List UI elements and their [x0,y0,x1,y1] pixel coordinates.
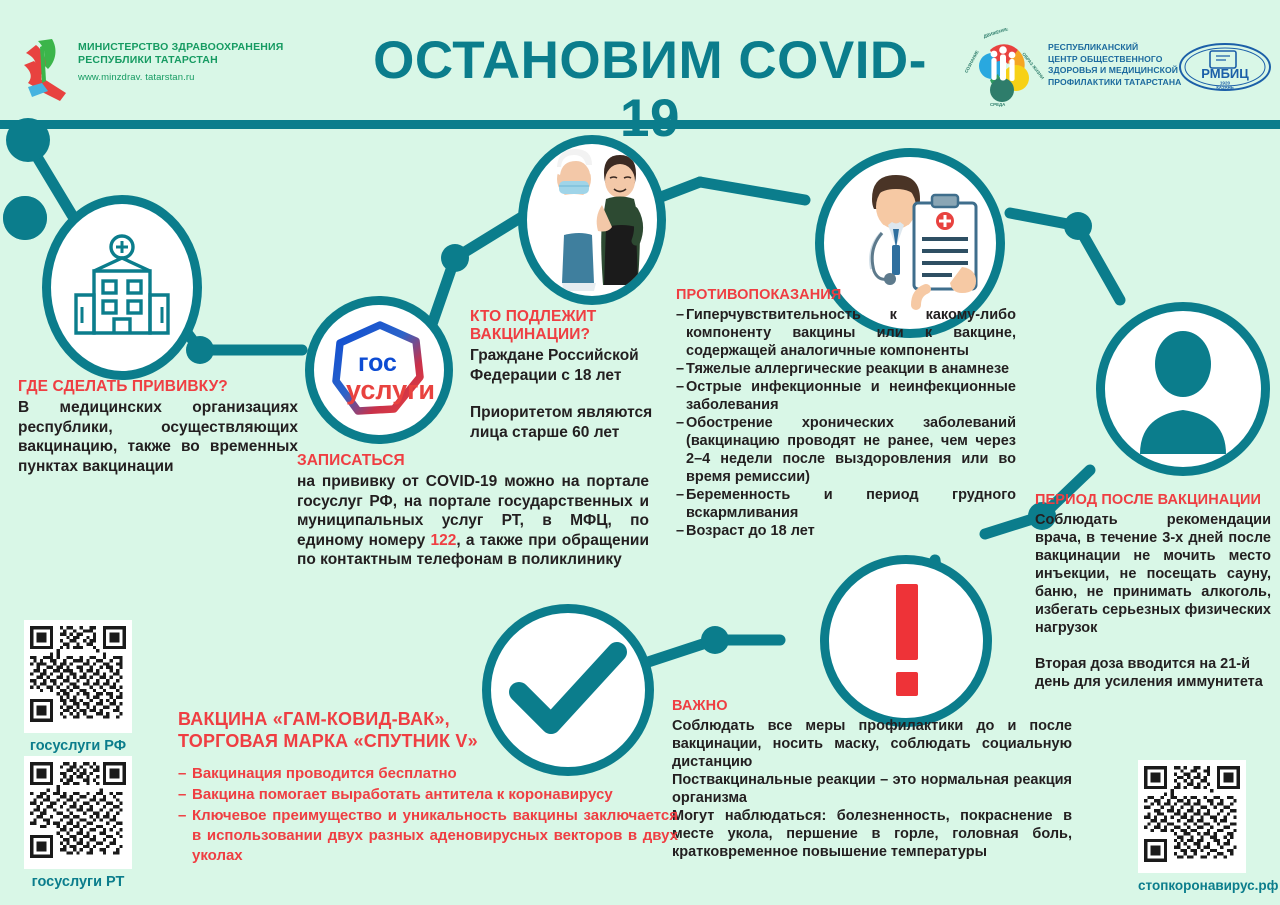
hospital-icon [70,233,175,343]
vaccine-heading-line-2: ТОРГОВАЯ МАРКА «СПУТНИК V» [178,730,678,752]
contraindication-text: Гиперчувствительность к какому-либо комп… [686,306,1016,360]
list-item: – Ключевое преимущество и уникальность в… [178,806,678,866]
rmbic-logo-icon: РМБИЦ 1920 КАЗАНЬ [1178,42,1273,92]
vaccine-heading: ВАКЦИНА «ГАМ-КОВИД-ВАК», ТОРГОВАЯ МАРКА … [178,708,678,752]
exclamation-icon [876,584,936,699]
header: МИНИСТЕРСТВО ЗДРАВООХРАНЕНИЯ РЕСПУБЛИКИ … [0,0,1280,118]
list-item: – Гиперчувствительность к какому-либо ко… [676,306,1016,360]
qr-label: госуслуги РТ [24,874,132,890]
infographic-poster: МИНИСТЕРСТВО ЗДРАВООХРАНЕНИЯ РЕСПУБЛИКИ … [0,0,1280,905]
list-item: – Вакцина помогает выработать антитела к… [178,785,678,805]
gosuslugi-logo-icon: гос услуги [324,315,434,425]
signup-heading: ЗАПИСАТЬСЯ [297,452,649,470]
after-body-2: Вторая доза вводится на 21-й день для ус… [1035,655,1271,691]
qr-code-image [1138,760,1246,873]
qr-code-image [24,620,132,733]
ministry-logo-block: МИНИСТЕРСТВО ЗДРАВООХРАНЕНИЯ РЕСПУБЛИКИ … [18,35,318,105]
list-item: – Вакцинация проводится бесплатно [178,764,678,784]
person-silhouette-icon [1118,324,1248,454]
ministry-line-1: МИНИСТЕРСТВО ЗДРАВООХРАНЕНИЯ [78,41,284,54]
who-block: КТО ПОДЛЕЖИТ ВАКЦИНАЦИИ? Граждане Россий… [470,308,666,442]
rcoz-line-1: РЕСПУБЛИКАНСКИЙ [1048,42,1181,54]
list-item: – Острые инфекционные и неинфекционные з… [676,378,1016,414]
qr-label: госуслуги РФ [24,738,132,754]
qr-gosuslugi-rf[interactable]: госуслуги РФ [24,620,132,754]
signup-phone: 122 [430,532,456,549]
important-body-2: Поствакцинальные реакции – это нормальна… [672,771,1072,807]
who-body-2: Приоритетом являются лица старше 60 лет [470,403,666,442]
vaccine-item-text: Ключевое преимущество и уникальность вак… [192,806,678,866]
node-person [1096,302,1270,476]
ministry-line-2: РЕСПУБЛИКИ ТАТАРСТАН [78,54,284,67]
ministry-url[interactable]: www.minzdrav. tatarstan.ru [78,72,194,83]
list-item: – Беременность и период грудного вскармл… [676,486,1016,522]
who-heading: КТО ПОДЛЕЖИТ ВАКЦИНАЦИИ? [470,308,666,344]
rcoz-name: РЕСПУБЛИКАНСКИЙ ЦЕНТР ОБЩЕСТВЕННОГО ЗДОР… [1048,42,1181,88]
important-heading: ВАЖНО [672,698,1072,715]
contraindication-text: Острые инфекционные и неинфекционные заб… [686,378,1016,414]
rmbic-title: РМБИЦ [1201,66,1249,81]
nurse-patient-icon [532,145,652,295]
rcoz-line-3: ЗДОРОВЬЯ И МЕДИЦИНСКОЙ [1048,65,1181,77]
who-heading-line-2: ВАКЦИНАЦИИ? [470,326,666,344]
svg-text:КАЗАНЬ: КАЗАНЬ [1216,85,1233,90]
rcoz-line-2: ЦЕНТР ОБЩЕСТВЕННОГО [1048,54,1181,66]
svg-text:СОЗНАНИЕ: СОЗНАНИЕ [964,49,980,73]
qr-gosuslugi-rt[interactable]: госуслуги РТ [24,756,132,890]
node-hospital [42,195,202,380]
vaccine-block: ВАКЦИНА «ГАМ-КОВИД-ВАК», ТОРГОВАЯ МАРКА … [178,708,678,867]
important-body-3: Могут наблюдаться: болезненность, покрас… [672,807,1072,861]
list-item: – Тяжелые аллергические реакции в анамне… [676,360,1016,378]
qr-label: стопкоронавирус.рф [1138,878,1246,893]
list-item: – Обострение хронических заболеваний (ва… [676,414,1016,486]
header-divider [0,120,1280,129]
where-block: ГДЕ СДЕЛАТЬ ПРИВИВКУ? В медицинских орга… [18,378,298,476]
qr-code-image [24,756,132,869]
who-heading-line-1: КТО ПОДЛЕЖИТ [470,308,666,326]
vaccine-list: – Вакцинация проводится бесплатно – Вакц… [178,764,678,866]
who-body-1: Граждане Российской Федерации с 18 лет [470,346,666,385]
contraindication-text: Возраст до 18 лет [686,522,1016,540]
signup-body: на прививку от COVID-19 можно на портале… [297,472,649,570]
node-gosuslugi: гос услуги [305,296,453,444]
rcoz-line-4: ПРОФИЛАКТИКИ ТАТАРСТАНА [1048,77,1181,89]
vaccine-heading-line-1: ВАКЦИНА «ГАМ-КОВИД-ВАК», [178,708,678,730]
ministry-name: МИНИСТЕРСТВО ЗДРАВООХРАНЕНИЯ РЕСПУБЛИКИ … [78,41,284,67]
where-body: В медицинских организациях республики, о… [18,398,298,476]
svg-text:СРЕДА: СРЕДА [990,102,1006,107]
contraindications-list: – Гиперчувствительность к какому-либо ко… [676,306,1016,540]
where-heading: ГДЕ СДЕЛАТЬ ПРИВИВКУ? [18,378,298,396]
node-vaccination [518,135,666,305]
svg-text:ДВИЖЕНИЕ: ДВИЖЕНИЕ [983,28,1009,39]
rcoz-emblem-icon: СОЗНАНИЕ ДВИЖЕНИЕ ОБРАЗ ЖИЗНИ СРЕДА [960,28,1045,108]
contraindication-text: Тяжелые аллергические реакции в анамнезе [686,360,1016,378]
gosuslugi-line-1: гос [358,349,397,377]
page-title: ОСТАНОВИМ COVID-19 [345,32,955,148]
qr-stopkoronavirus[interactable]: стопкоронавирус.рф [1138,760,1246,893]
signup-block: ЗАПИСАТЬСЯ на прививку от COVID-19 можно… [297,452,649,570]
after-body-1: Соблюдать рекомендации врача, в течение … [1035,511,1271,637]
after-vaccination-block: ПЕРИОД ПОСЛЕ ВАКЦИНАЦИИ Соблюдать рекоме… [1035,492,1271,691]
contraindications-heading: ПРОТИВОПОКАЗАНИЯ [676,287,1016,304]
list-item: – Возраст до 18 лет [676,522,1016,540]
vaccine-item-text: Вакцина помогает выработать антитела к к… [192,785,678,805]
important-block: ВАЖНО Соблюдать все меры профилактики до… [672,698,1072,861]
vaccine-item-text: Вакцинация проводится бесплатно [192,764,678,784]
contraindication-text: Беременность и период грудного вскармлив… [686,486,1016,522]
contraindications-block: ПРОТИВОПОКАЗАНИЯ – Гиперчувствительность… [676,287,1016,540]
tatarstan-emblem-icon [18,35,73,105]
after-heading: ПЕРИОД ПОСЛЕ ВАКЦИНАЦИИ [1035,492,1271,509]
important-body-1: Соблюдать все меры профилактики до и пос… [672,717,1072,771]
contraindication-text: Обострение хронических заболеваний (вакц… [686,414,1016,486]
gosuslugi-line-2: услуги [346,375,435,405]
